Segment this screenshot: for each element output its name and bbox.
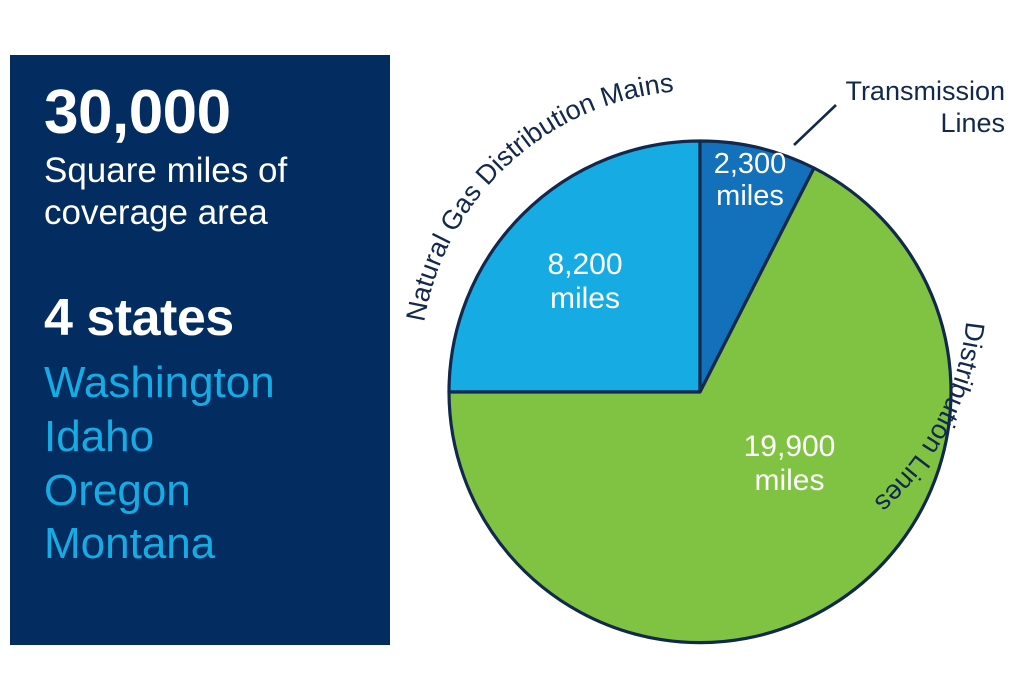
- coverage-area-number: 30,000: [44, 81, 390, 144]
- list-item: Montana: [44, 517, 390, 571]
- list-item: Oregon: [44, 464, 390, 518]
- stats-panel: 30,000 Square miles of coverage area 4 s…: [10, 55, 390, 645]
- coverage-area-caption: Square miles of coverage area: [44, 150, 364, 234]
- infographic-root: 30,000 Square miles of coverage area 4 s…: [0, 0, 1015, 684]
- transmission-lines-callout: Transmission Lines: [775, 76, 1005, 140]
- state-list: Washington Idaho Oregon Montana: [44, 356, 390, 571]
- list-item: Idaho: [44, 410, 390, 464]
- pie-chart: Natural Gas Distribution Mains Distribut…: [390, 0, 1015, 684]
- list-item: Washington: [44, 356, 390, 410]
- states-count-heading: 4 states: [44, 292, 390, 344]
